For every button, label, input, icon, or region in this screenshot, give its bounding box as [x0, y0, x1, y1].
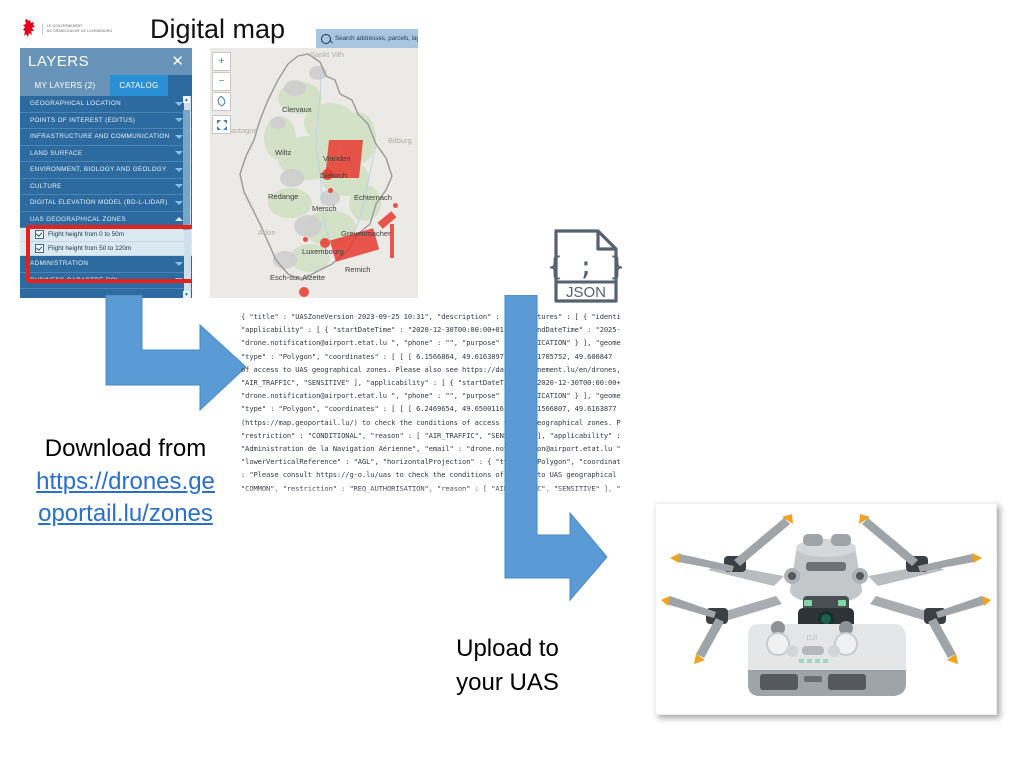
upload-caption-line-1: Upload to [400, 632, 615, 666]
catalog-category[interactable]: POINTS OF INTEREST (EDITUS) [20, 113, 192, 130]
search-icon [321, 34, 331, 44]
layers-panel-title: LAYERS [28, 53, 89, 70]
download-caption-block: Download from https://drones.ge oportail… [8, 432, 243, 530]
logo-line-1: LE GOUVERNEMENT [47, 24, 83, 28]
luxembourg-red-lion-icon [22, 18, 38, 40]
uas-zone-circle [299, 287, 309, 297]
catalog-category[interactable]: LAND SURFACE [20, 146, 192, 163]
map-label: Sankt Vith [310, 50, 344, 59]
map-label: Redange [268, 192, 298, 201]
catalog-category[interactable]: GEOGRAPHICAL LOCATION [20, 96, 192, 113]
geoportal-header: LE GOUVERNEMENT DU GRAND-DUCHÉ DE LUXEMB… [20, 10, 418, 48]
chevron-up-icon[interactable] [175, 217, 183, 221]
catalog-category-label: GEOGRAPHICAL LOCATION [30, 100, 121, 107]
search-placeholder: Search addresses, parcels, laye [335, 35, 418, 42]
catalog-category[interactable]: ENVIRONMENT, BIOLOGY AND GEOLOGY [20, 162, 192, 179]
government-logo-text: LE GOUVERNEMENT DU GRAND-DUCHÉ DE LUXEMB… [42, 24, 112, 33]
fullscreen-button[interactable] [212, 115, 231, 134]
arrow-json-to-drone [495, 295, 610, 620]
catalog-category-label: ENVIRONMENT, BIOLOGY AND GEOLOGY [30, 166, 167, 173]
map-label: Esch-sur-Alzette [270, 273, 325, 282]
svg-text:DJI: DJI [807, 635, 818, 642]
government-logo: LE GOUVERNEMENT DU GRAND-DUCHÉ DE LUXEMB… [22, 14, 127, 44]
arrow-map-to-json [60, 295, 250, 440]
catalog-category-label: CULTURE [30, 183, 62, 190]
map-label: Vianden [323, 154, 350, 163]
upload-caption-block: Upload to your UAS [400, 632, 615, 700]
country-extent-button[interactable] [212, 92, 231, 111]
map-label: Bitburg [388, 136, 412, 145]
map-label: Echternach [354, 193, 392, 202]
geoportal-screenshot: LE GOUVERNEMENT DU GRAND-DUCHÉ DE LUXEMB… [20, 10, 418, 298]
map-label: Diekirch [320, 171, 347, 180]
tab-my-layers[interactable]: MY LAYERS (2) [20, 75, 110, 96]
scrollbar-thumb[interactable] [183, 110, 190, 230]
chevron-down-icon[interactable] [175, 135, 183, 139]
highlight-annotation [26, 225, 192, 283]
map-label: Remich [345, 265, 370, 274]
map-label: Wiltz [275, 148, 291, 157]
page-title: Digital map [150, 10, 285, 48]
map-label: Luxembourg [302, 247, 344, 256]
catalog-category[interactable]: CULTURE [20, 179, 192, 196]
download-caption: Download from [8, 432, 243, 466]
map-label: Mersch [312, 204, 337, 213]
map-label: Arlon [258, 228, 276, 237]
uas-drone-photo: DJI [655, 503, 997, 715]
chevron-down-icon[interactable] [175, 201, 183, 205]
uas-zone-circle [303, 237, 308, 242]
map-controls[interactable]: + − [212, 52, 229, 135]
map-canvas[interactable]: ClervauxWiltzViandenDiekirchRedangeEchte… [210, 48, 418, 298]
catalog-category-label: POINTS OF INTEREST (EDITUS) [30, 117, 135, 124]
catalog-category[interactable]: INFRASTRUCTURE AND COMMUNICATION [20, 129, 192, 146]
search-input[interactable]: Search addresses, parcels, laye [316, 29, 418, 48]
chevron-down-icon[interactable] [175, 118, 183, 122]
chevron-down-icon[interactable] [175, 102, 183, 106]
catalog-category[interactable]: DIGITAL ELEVATION MODEL (BD-L-LIDAR) [20, 195, 192, 212]
uas-zone-circle [328, 188, 333, 193]
download-link-line-1[interactable]: https://drones.ge [8, 466, 243, 498]
upload-caption-line-2: your UAS [400, 666, 615, 700]
chevron-down-icon[interactable] [175, 184, 183, 188]
uas-zone-circle [393, 203, 398, 208]
catalog-category-label: INFRASTRUCTURE AND COMMUNICATION [30, 133, 169, 140]
svg-text:{ ; }: { ; } [550, 252, 622, 282]
scroll-up-icon[interactable]: ▲ [183, 96, 190, 103]
layers-panel-tabs[interactable]: MY LAYERS (2) CATALOG [20, 75, 192, 96]
close-icon[interactable]: ✕ [171, 54, 184, 69]
logo-line-2: DU GRAND-DUCHÉ DE LUXEMBOURG [47, 29, 112, 33]
chevron-down-icon[interactable] [175, 168, 183, 172]
tab-catalog[interactable]: CATALOG [110, 75, 168, 96]
layers-panel-header: LAYERS ✕ [20, 48, 192, 75]
catalog-category-label: UAS GEOGRAPHICAL ZONES [30, 216, 126, 223]
map-label: Grevenmacher [341, 229, 391, 238]
catalog-category-label: LAND SURFACE [30, 150, 83, 157]
chevron-down-icon[interactable] [175, 151, 183, 155]
json-file-icon: { ; } JSON [550, 228, 622, 304]
layers-panel[interactable]: LAYERS ✕ MY LAYERS (2) CATALOG GEOGRAPHI… [20, 48, 192, 298]
zoom-in-button[interactable]: + [212, 52, 231, 71]
zoom-out-button[interactable]: − [212, 72, 231, 91]
map-label: Clervaux [282, 105, 312, 114]
catalog-category-label: DIGITAL ELEVATION MODEL (BD-L-LIDAR) [30, 199, 167, 206]
download-link-line-2[interactable]: oportail.lu/zones [8, 498, 243, 530]
map-terrain [210, 48, 418, 298]
